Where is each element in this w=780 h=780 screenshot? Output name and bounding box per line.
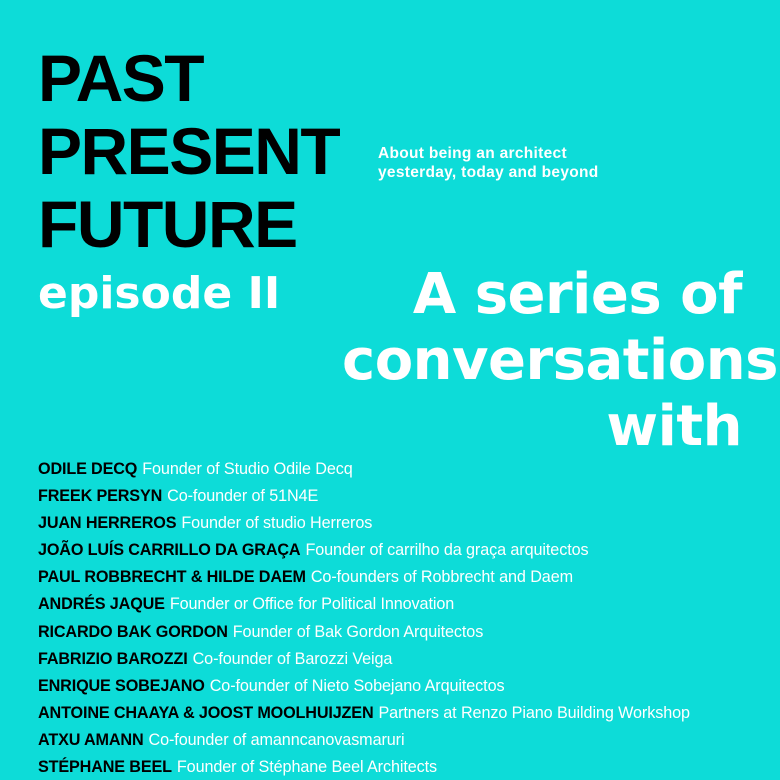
speaker-name: RICARDO BAK GORDON [38,623,228,641]
series-heading: A series of conversations with [342,262,742,460]
speaker-row: ANDRÉS JAQUEFounder or Office for Politi… [38,593,762,620]
speaker-role: Co-founder of Barozzi Veiga [193,650,393,668]
speaker-role: Partners at Renzo Piano Building Worksho… [378,704,689,722]
speaker-role: Founder of carrilho da graça arquitectos [305,541,588,559]
headline-line-present: PRESENT [38,115,398,188]
poster-canvas: PAST PRESENT FUTURE episode II About bei… [0,0,780,780]
speaker-role: Co-founder of 51N4E [167,487,318,505]
series-line-2: conversations [342,328,742,394]
speaker-name: JOÃO LUÍS CARRILLO DA GRAÇA [38,541,300,559]
speaker-row: ODILE DECQFounder of Studio Odile Decq [38,458,762,485]
speaker-role: Founder of Bak Gordon Arquitectos [233,623,483,641]
speaker-name: JUAN HERREROS [38,514,176,532]
speaker-row: PAUL ROBBRECHT & HILDE DAEMCo-founders o… [38,566,762,593]
headline-line-future: FUTURE [38,188,398,261]
speaker-role: Founder of Stéphane Beel Architects [177,758,437,776]
series-line-1: A series of [342,262,742,328]
speaker-name: ATXU AMANN [38,731,144,749]
speaker-name: FREEK PERSYN [38,487,162,505]
speaker-name: STÉPHANE BEEL [38,758,172,776]
speaker-role: Co-founder of amanncanovasmaruri [149,731,405,749]
speaker-row: STÉPHANE BEELFounder of Stéphane Beel Ar… [38,756,762,780]
speaker-role: Co-founders of Robbrecht and Daem [311,568,573,586]
speaker-row: FREEK PERSYNCo-founder of 51N4E [38,485,762,512]
speaker-name: ENRIQUE SOBEJANO [38,677,205,695]
speaker-row: ENRIQUE SOBEJANOCo-founder of Nieto Sobe… [38,675,762,702]
speaker-row: ATXU AMANNCo-founder of amanncanovasmaru… [38,729,762,756]
subtitle-line-1: About being an architect [378,144,599,163]
speaker-row: JOÃO LUÍS CARRILLO DA GRAÇAFounder of ca… [38,539,762,566]
speakers-list: ODILE DECQFounder of Studio Odile DecqFR… [38,458,762,780]
speaker-row: RICARDO BAK GORDONFounder of Bak Gordon … [38,621,762,648]
speaker-name: ODILE DECQ [38,460,137,478]
speaker-name: FABRIZIO BAROZZI [38,650,188,668]
speaker-row: JUAN HERREROSFounder of studio Herreros [38,512,762,539]
speaker-row: ANTOINE CHAAYA & JOOST MOOLHUIJZENPartne… [38,702,762,729]
speaker-role: Co-founder of Nieto Sobejano Arquitectos [210,677,505,695]
speaker-name: PAUL ROBBRECHT & HILDE DAEM [38,568,306,586]
speaker-name: ANTOINE CHAAYA & JOOST MOOLHUIJZEN [38,704,373,722]
speaker-row: FABRIZIO BAROZZICo-founder of Barozzi Ve… [38,648,762,675]
subtitle-block: About being an architect yesterday, toda… [378,144,599,182]
series-line-3: with [342,394,742,460]
speaker-role: Founder or Office for Political Innovati… [170,595,454,613]
speaker-role: Founder of Studio Odile Decq [142,460,352,478]
subtitle-line-2: yesterday, today and beyond [378,163,599,182]
headline-line-past: PAST [38,42,398,115]
speaker-role: Founder of studio Herreros [181,514,372,532]
speaker-name: ANDRÉS JAQUE [38,595,165,613]
